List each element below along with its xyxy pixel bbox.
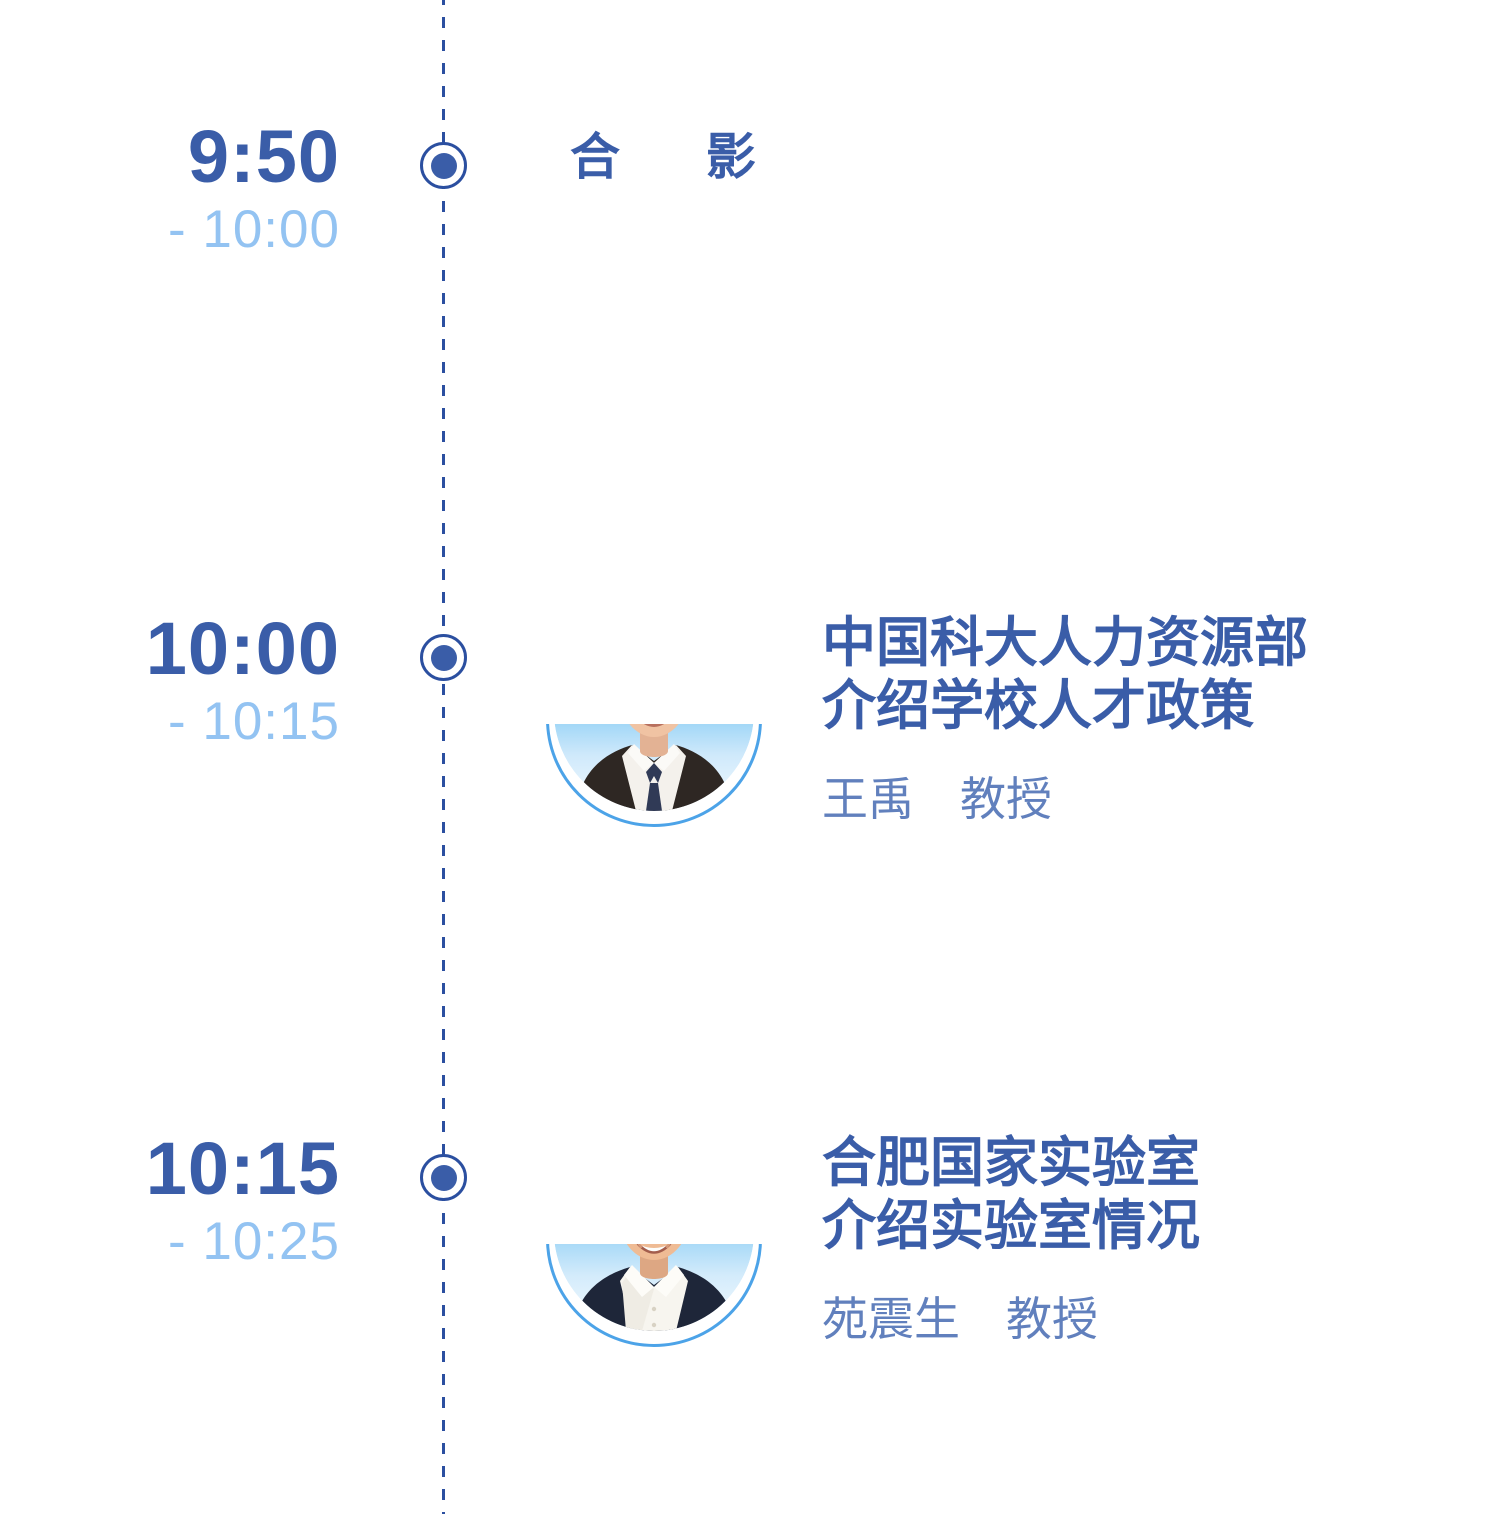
entry-start-time: 10:15: [0, 1132, 340, 1206]
entry-session-block: 中国科大人力资源部 介绍学校人才政策 王禹 教授: [822, 612, 1462, 828]
entry-end-time: - 10:00: [0, 203, 340, 256]
entry-start-time: 9:50: [0, 120, 340, 194]
entry-title: 合肥国家实验室 介绍实验室情况: [822, 1132, 1462, 1258]
entry-speaker: 苑震生 教授: [822, 1258, 1462, 1347]
speaker-avatar: [546, 1131, 762, 1347]
entry-speaker: 王禹 教授: [822, 738, 1462, 827]
entry-session-block: 合肥国家实验室 介绍实验室情况 苑震生 教授: [822, 1132, 1462, 1348]
entry-session-block: 合 影: [570, 128, 1210, 187]
entry-time-block: 10:15 - 10:25: [0, 1132, 340, 1268]
avatar-ring-accent-icon: [546, 611, 762, 827]
timeline-node-marker-icon: [420, 634, 467, 681]
entry-time-block: 9:50 - 10:00: [0, 120, 340, 256]
entry-title: 合 影: [570, 128, 1210, 187]
timeline-node-core-icon: [431, 153, 457, 179]
timeline-node-core-icon: [431, 1165, 457, 1191]
entry-title: 中国科大人力资源部 介绍学校人才政策: [822, 612, 1462, 738]
speaker-avatar: [546, 611, 762, 827]
entry-start-time: 10:00: [0, 612, 340, 686]
avatar-ring-accent-icon: [546, 1131, 762, 1347]
entry-end-time: - 10:15: [0, 695, 340, 748]
timeline-node-core-icon: [431, 645, 457, 671]
entry-end-time: - 10:25: [0, 1215, 340, 1268]
timeline-axis-dashed-line: [442, 0, 445, 1514]
timeline-node-marker-icon: [420, 1154, 467, 1201]
entry-time-block: 10:00 - 10:15: [0, 612, 340, 748]
timeline-node-marker-icon: [420, 142, 467, 189]
